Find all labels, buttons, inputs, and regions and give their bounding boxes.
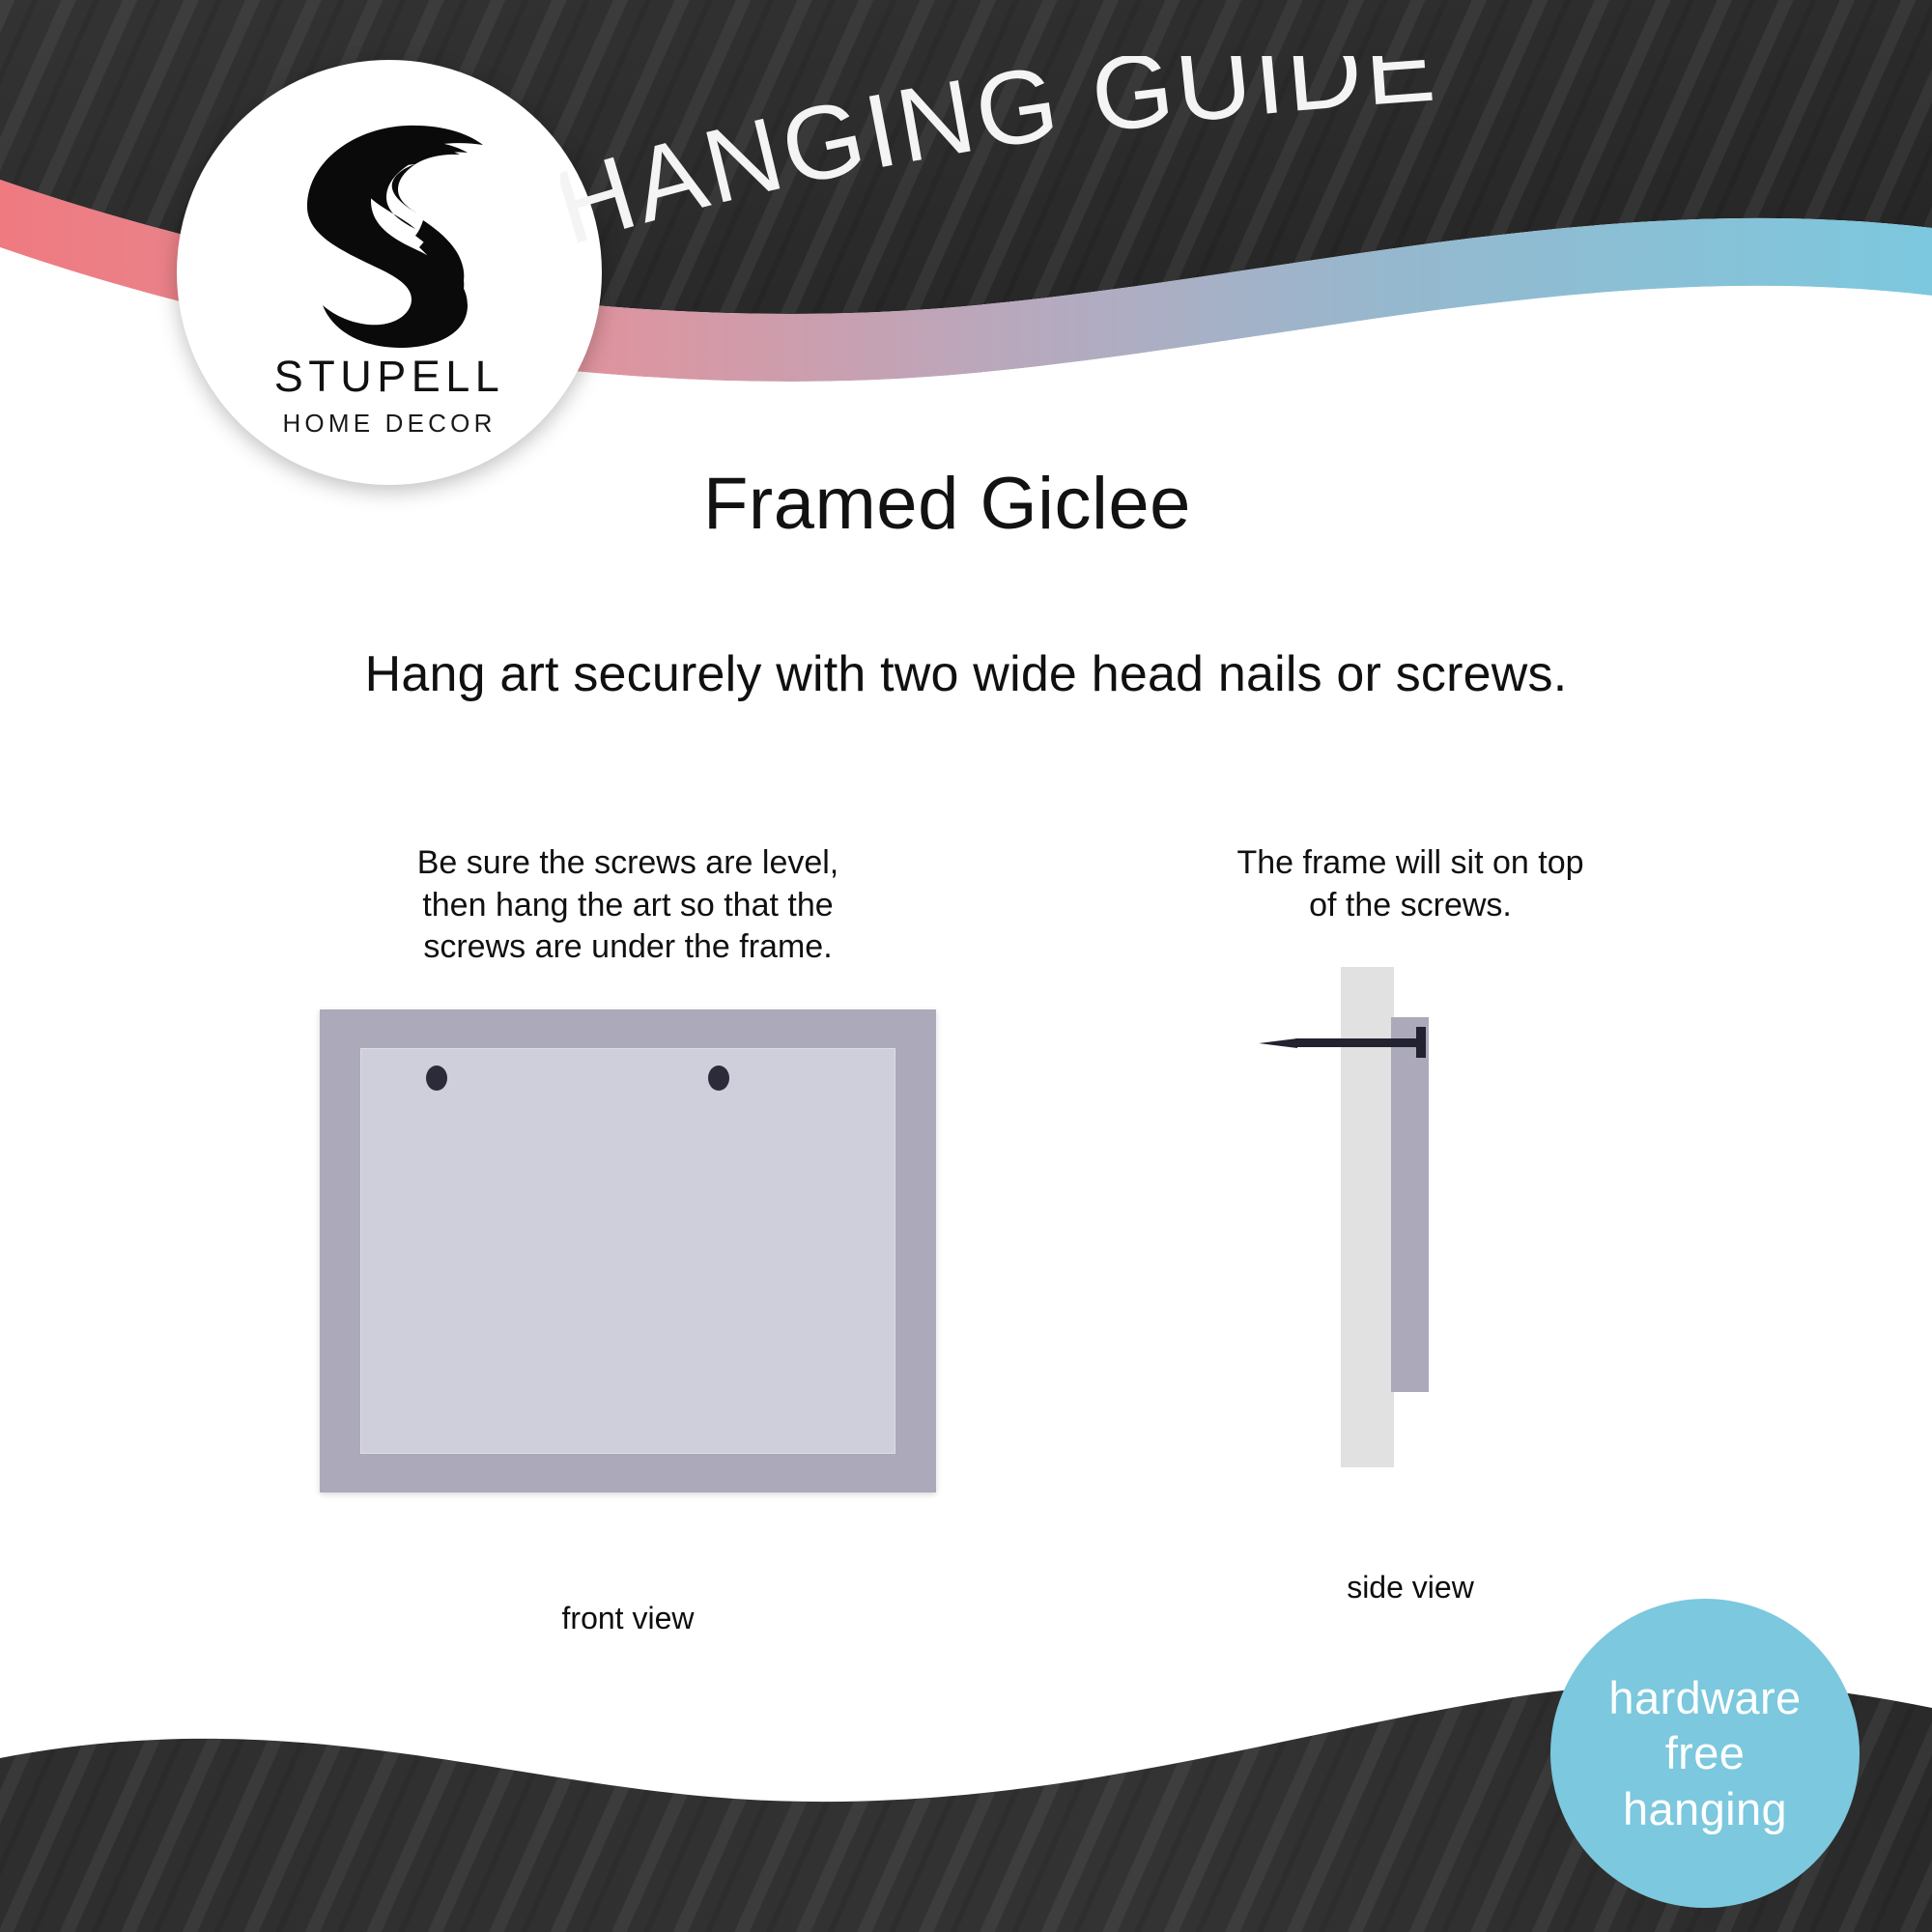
hanging-guide-page: STUPELL HOME DECOR HANGING GUIDE Framed … (0, 0, 1932, 1932)
header-title: HANGING GUIDE (560, 56, 1441, 267)
logo-wordmark: STUPELL (274, 355, 505, 398)
front-caption-line-1: Be sure the screws are level, (193, 842, 1063, 885)
frame-cross-section (1391, 1017, 1429, 1392)
stupell-swoosh-icon (278, 102, 500, 349)
logo-subwordmark: HOME DECOR (282, 411, 496, 436)
hardware-free-hanging-badge: hardware free hanging (1550, 1599, 1860, 1908)
badge-line-2: free (1665, 1725, 1746, 1780)
header-title-svg: HANGING GUIDE (560, 56, 1874, 278)
nail-icon (1259, 1027, 1442, 1060)
product-title: Framed Giclee (703, 462, 1191, 546)
front-caption-line-2: then hang the art so that the (193, 885, 1063, 927)
front-view-label: front view (193, 1601, 1063, 1636)
lead-instruction: Hang art securely with two wide head nai… (0, 645, 1932, 703)
framed-art-front-diagram (320, 1009, 936, 1492)
side-caption-line-2: of the screws. (1063, 885, 1758, 927)
screw-dot-left (426, 1065, 447, 1091)
front-view-panel: Be sure the screws are level, then hang … (193, 842, 1063, 1636)
side-view-label: side view (1063, 1570, 1758, 1605)
brand-logo-badge: STUPELL HOME DECOR (177, 60, 602, 485)
header-title-container: HANGING GUIDE (560, 56, 1874, 278)
screw-dot-right (708, 1065, 729, 1091)
side-view-panel: The frame will sit on top of the screws.… (1063, 842, 1758, 1605)
front-view-caption: Be sure the screws are level, then hang … (193, 842, 1063, 969)
framed-art-side-diagram (1063, 967, 1758, 1508)
front-art-mat (360, 1048, 895, 1454)
side-view-caption: The frame will sit on top of the screws. (1063, 842, 1758, 926)
side-caption-line-1: The frame will sit on top (1063, 842, 1758, 885)
front-caption-line-3: screws are under the frame. (193, 926, 1063, 969)
badge-line-1: hardware (1608, 1670, 1801, 1725)
badge-line-3: hanging (1623, 1781, 1787, 1836)
